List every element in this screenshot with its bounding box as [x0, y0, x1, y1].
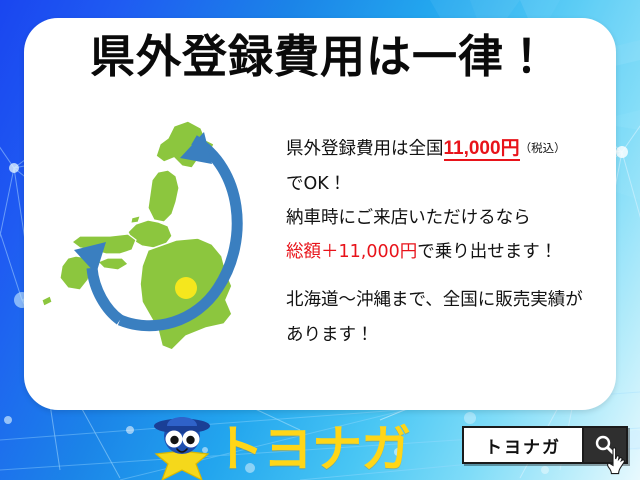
- shop-location-marker: [175, 277, 197, 299]
- search-input[interactable]: トヨナガ: [462, 426, 582, 464]
- tax-note: （税込）: [520, 141, 566, 155]
- page-title: 県外登録費用は一律！: [24, 34, 616, 79]
- map-svg: [36, 110, 276, 400]
- map-arrow-tail: [92, 268, 120, 320]
- copy-line-2: でOK！: [286, 167, 606, 201]
- copy-line-1: 県外登録費用は全国11,000円（税込）: [286, 130, 606, 167]
- copy-line-3: 納車時にご来店いただけるなら: [286, 201, 606, 235]
- map-region-shikoku: [98, 258, 128, 270]
- copy-line-4-rest: で乗り出せます！: [417, 242, 557, 262]
- mascot-hat-crown: [167, 417, 197, 426]
- hand-cursor-icon: [604, 446, 630, 476]
- copy-line-6: あります！: [286, 318, 606, 352]
- mascot-svg: [146, 408, 218, 480]
- price-highlight: 11,000円: [444, 138, 520, 161]
- mascot-pupil-right: [186, 436, 194, 444]
- search-button[interactable]: [582, 426, 628, 464]
- total-price-highlight: 総額＋11,000円: [286, 242, 417, 262]
- body-copy: 県外登録費用は全国11,000円（税込） でOK！ 納車時にご来店いただけるなら…: [286, 130, 606, 352]
- copy-line-5: 北海道～沖縄まで、全国に販売実績が: [286, 283, 606, 317]
- brand-logo-text: トヨナガ: [214, 424, 410, 474]
- brand-bar: トヨナガ トヨナガ: [0, 408, 640, 480]
- copy-line-1-prefix: 県外登録費用は全国: [286, 139, 444, 159]
- toyonaga-mascot: [146, 408, 218, 480]
- mascot-pupil-left: [170, 436, 178, 444]
- copy-line-4: 総額＋11,000円で乗り出せます！: [286, 235, 606, 269]
- map-region-okinawa: [42, 296, 52, 306]
- japan-map-illustration: [36, 110, 276, 400]
- map-region-tohoku: [148, 170, 179, 222]
- map-islet: [131, 216, 140, 223]
- banner-image: 県外登録費用は一律！: [0, 0, 640, 480]
- copy-spacer: [286, 269, 606, 283]
- search-bar[interactable]: トヨナガ: [462, 426, 628, 464]
- content-card: 県外登録費用は一律！: [24, 18, 616, 410]
